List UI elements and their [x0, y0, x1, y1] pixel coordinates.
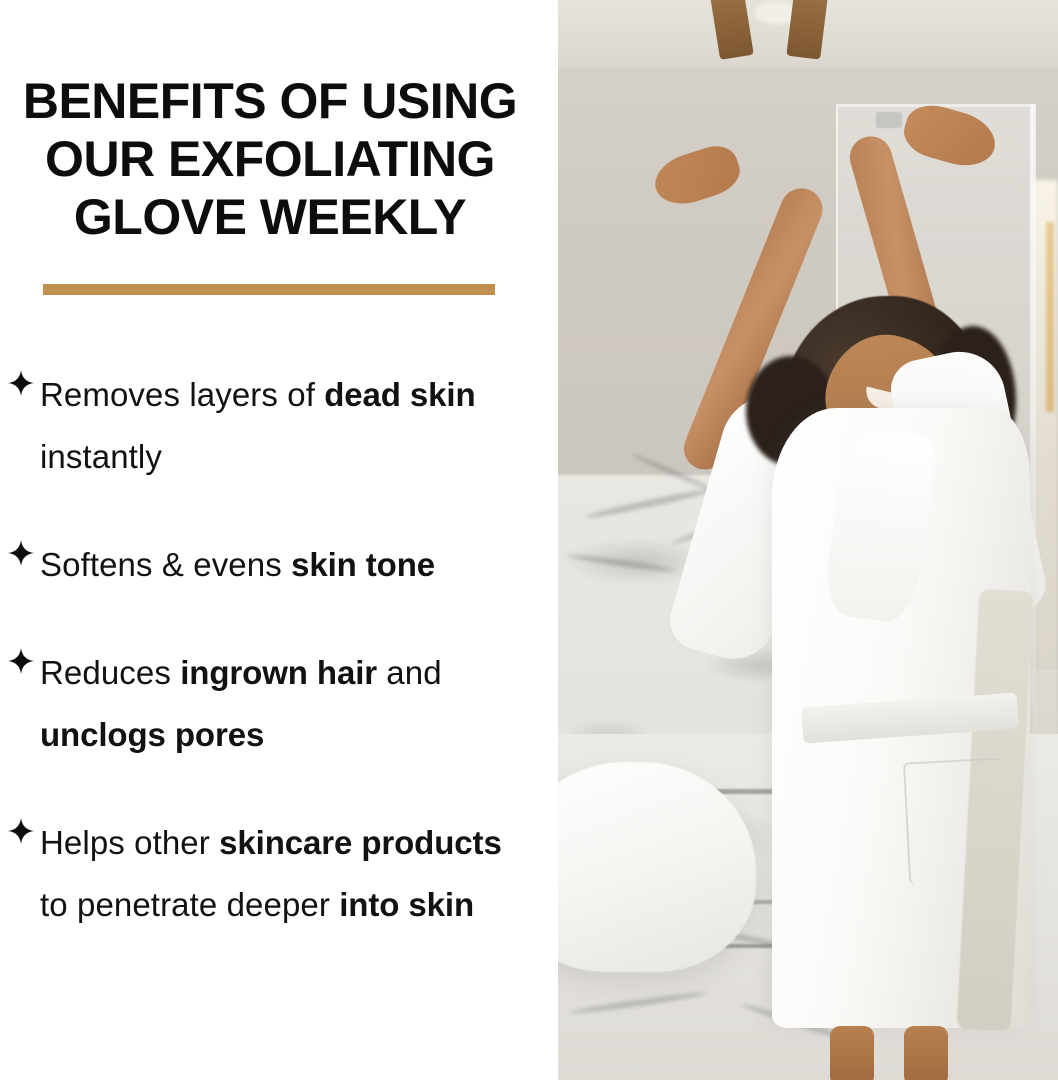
- sparkle-star-icon: [0, 364, 40, 396]
- sparkle-star-icon: [0, 534, 40, 566]
- benefit-text-3: Reduces ingrown hair and unclogs pores: [40, 642, 558, 766]
- page-title: BENEFITS OF USING OUR EXFOLIATING GLOVE …: [0, 72, 540, 246]
- benefit-text-4: Helps other skincare products to penetra…: [40, 812, 558, 936]
- benefits-list: Removes layers of dead skin instantly So…: [0, 364, 558, 982]
- benefits-text-panel: BENEFITS OF USING OUR EXFOLIATING GLOVE …: [0, 0, 558, 1080]
- benefit-text-1: Removes layers of dead skin instantly: [40, 364, 558, 488]
- leg: [904, 1026, 948, 1080]
- list-item: Helps other skincare products to penetra…: [0, 812, 558, 936]
- leg: [830, 1026, 874, 1080]
- hand-right: [899, 98, 1002, 173]
- list-item: Reduces ingrown hair and unclogs pores: [0, 642, 558, 766]
- sparkle-star-icon: [0, 642, 40, 674]
- list-item: Softens & evens skin tone: [0, 534, 558, 596]
- robe-pocket: [903, 758, 1007, 885]
- promo-banner: BENEFITS OF USING OUR EXFOLIATING GLOVE …: [0, 0, 1058, 1080]
- model-figure: [558, 0, 1058, 1080]
- accent-divider: [43, 284, 495, 295]
- sparkle-star-icon: [0, 812, 40, 844]
- hand-left: [649, 140, 746, 212]
- lifestyle-photo: [558, 0, 1058, 1080]
- benefit-text-2: Softens & evens skin tone: [40, 534, 558, 596]
- list-item: Removes layers of dead skin instantly: [0, 364, 558, 488]
